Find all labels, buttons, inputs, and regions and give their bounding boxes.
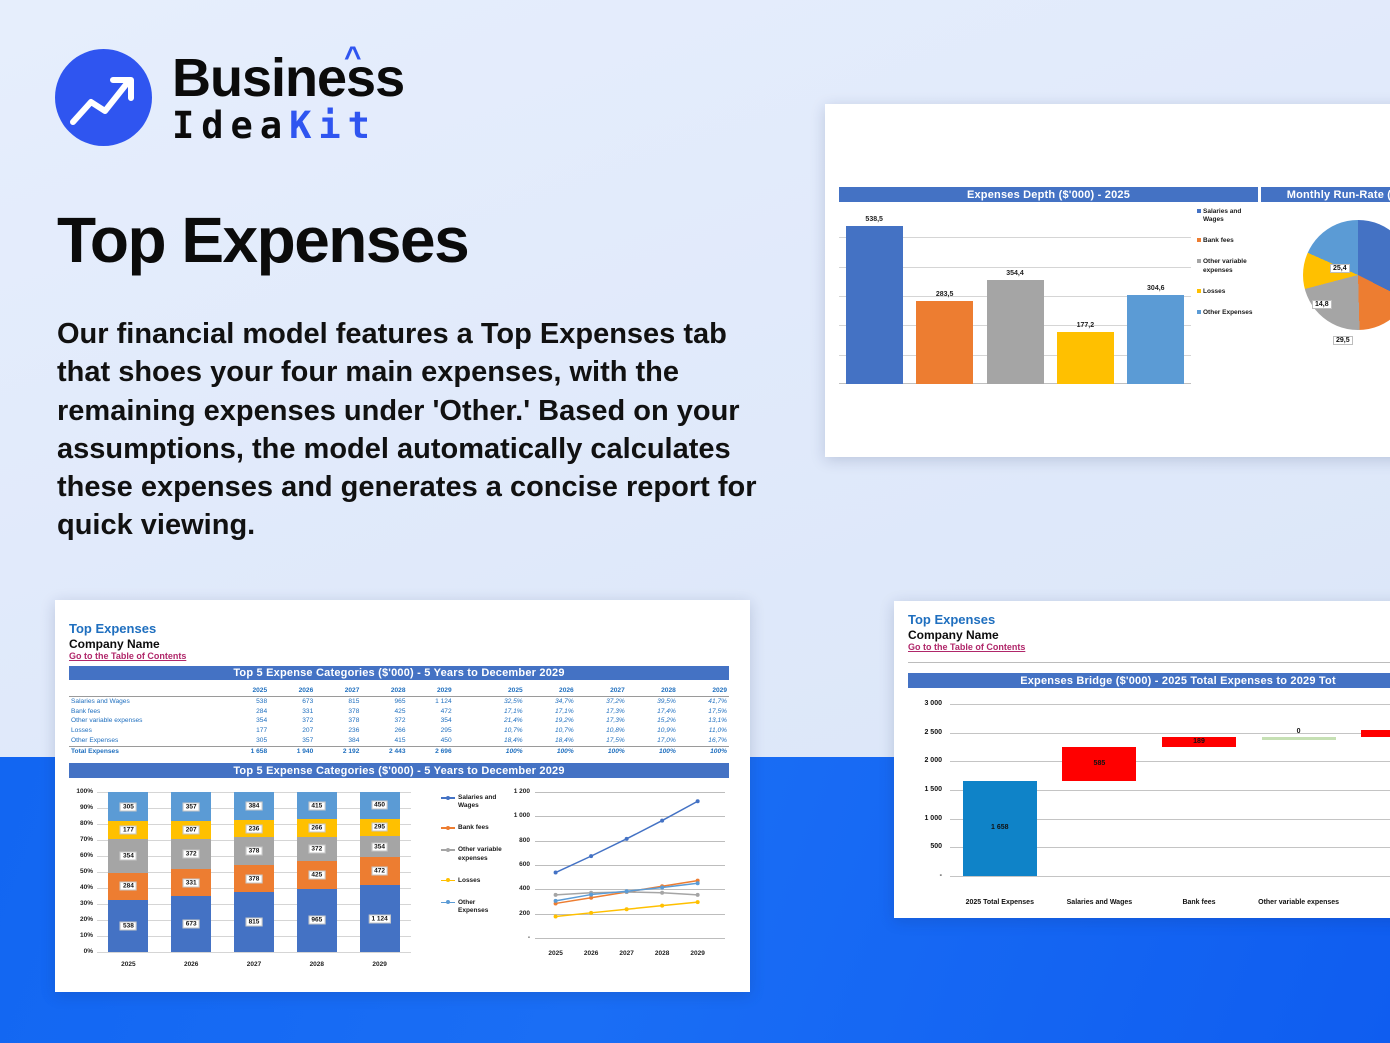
cell-percent: 41,7% — [678, 696, 729, 706]
cell-value: 378 — [315, 716, 361, 726]
page-description: Our financial model features a Top Expen… — [57, 315, 757, 545]
table-header-row: 2025202620272028202920252026202720282029 — [69, 686, 729, 696]
legend-item-2: Other variable expenses — [1197, 258, 1259, 274]
chart-title-band-stacked: Top 5 Expense Categories ($'000) - 5 Yea… — [69, 763, 729, 778]
x-tick-label: Other variable expenses — [1249, 899, 1349, 906]
cell-percent: 100% — [678, 746, 729, 756]
segment-losses: 177 — [108, 821, 148, 838]
legend-marker — [441, 846, 455, 853]
segment-other-variable-expenses: 354 — [108, 839, 148, 873]
col-year-2029: 2029 — [408, 686, 454, 696]
row-label: Bank fees — [69, 707, 223, 717]
cell-percent: 10,7% — [525, 726, 576, 736]
stacked-column-2025: 305177354284538 — [108, 792, 148, 952]
segment-label: 378 — [246, 847, 263, 856]
legend-dot — [446, 826, 450, 830]
cell-gap — [454, 716, 474, 726]
waterfall-bar-label: 1 658 — [963, 824, 1037, 831]
col-pct-year-2029: 2029 — [678, 686, 729, 696]
legend-dot — [446, 878, 450, 882]
legend-dot — [446, 848, 450, 852]
cell-value: 372 — [361, 716, 407, 726]
y-tick-label: 70% — [69, 836, 93, 843]
chart-title-expenses-bridge: Expenses Bridge ($'000) - 2025 Total Exp… — [908, 673, 1390, 688]
cell-value: 295 — [408, 726, 454, 736]
waterfall-bar-3 — [1262, 737, 1336, 740]
x-tick-label: Los — [1348, 899, 1390, 906]
line-chart-legend: Salaries and WagesBank feesOther variabl… — [441, 794, 507, 929]
cell-percent: 10,9% — [627, 726, 678, 736]
stacked-bar-chart: 0%10%20%30%40%50%60%70%80%90%100%3051773… — [69, 784, 439, 974]
chart-title-expenses-depth: Expenses Depth ($'000) - 2025 — [839, 187, 1258, 202]
segment-label: 538 — [120, 922, 137, 931]
cell-value: 207 — [269, 726, 315, 736]
y-tick-label: 2 500 — [908, 729, 942, 736]
segment-other-expenses: 305 — [108, 792, 148, 821]
row-label: Salaries and Wages — [69, 696, 223, 706]
x-tick-label: Bank fees — [1149, 899, 1249, 906]
segment-other-expenses: 357 — [171, 792, 211, 821]
segment-label: 425 — [308, 870, 325, 879]
line-series-svg — [505, 784, 729, 974]
segment-label: 357 — [183, 802, 200, 811]
row-label: Other Expenses — [69, 736, 223, 746]
cell-percent: 11,0% — [678, 726, 729, 736]
cell-value: 965 — [361, 696, 407, 706]
stacked-column-2026: 357207372331673 — [171, 792, 211, 952]
cell-value: 472 — [408, 707, 454, 717]
cell-percent: 17,5% — [576, 736, 627, 746]
bar-label: 283,5 — [916, 291, 973, 298]
legend-label: Other variable expenses — [458, 846, 507, 862]
cell-percent: 10,7% — [474, 726, 525, 736]
waterfall-bar-label: 0 — [1262, 728, 1336, 735]
line-chart: -2004006008001 0001 20020252026202720282… — [505, 784, 729, 974]
gridline — [950, 761, 1390, 762]
expense-table: 2025202620272028202920252026202720282029… — [69, 686, 729, 756]
screenshot-panel-top5-categories: Top Expenses Company Name Go to the Tabl… — [55, 600, 750, 992]
cell-value: 1 940 — [269, 746, 315, 756]
legend-swatch — [1197, 310, 1201, 314]
table-of-contents-link[interactable]: Go to the Table of Contents — [908, 642, 1025, 653]
table-row: Other variable expenses35437237837235421… — [69, 716, 729, 726]
legend-item-0: Salaries and Wages — [441, 794, 507, 810]
col-year-2025: 2025 — [223, 686, 269, 696]
segment-label: 372 — [308, 844, 325, 853]
sheet-company-name: Company Name — [908, 628, 1025, 642]
gridline — [950, 704, 1390, 705]
sheet-company-name: Company Name — [69, 637, 186, 651]
segment-label: 673 — [183, 920, 200, 929]
segment-label: 450 — [371, 801, 388, 810]
cell-percent: 17,4% — [627, 707, 678, 717]
row-label: Other variable expenses — [69, 716, 223, 726]
segment-salaries-and-wages: 673 — [171, 896, 211, 952]
segment-label: 384 — [246, 802, 263, 811]
legend-label: Other variable expenses — [1203, 258, 1259, 274]
divider — [908, 662, 1390, 663]
segment-label: 305 — [120, 802, 137, 811]
col-year-2027: 2027 — [315, 686, 361, 696]
legend-item-3: Losses — [441, 877, 507, 885]
logo-circumflex-accent: ^ — [344, 43, 361, 73]
y-tick-label: 0% — [69, 948, 93, 955]
legend-swatch — [1197, 209, 1201, 213]
col-year-2028: 2028 — [361, 686, 407, 696]
cell-percent: 17,3% — [576, 707, 627, 717]
legend-item-4: Other Expenses — [1197, 309, 1259, 317]
cell-percent: 13,1% — [678, 716, 729, 726]
bar-label: 304,6 — [1127, 285, 1184, 292]
monthly-run-rate-pie-chart — [1303, 220, 1390, 330]
segment-other-variable-expenses: 372 — [297, 837, 337, 861]
cell-percent: 21,4% — [474, 716, 525, 726]
segment-salaries-and-wages: 965 — [297, 889, 337, 952]
bar-label: 177,2 — [1057, 322, 1114, 329]
segment-label: 331 — [183, 878, 200, 887]
segment-label: 354 — [120, 851, 137, 860]
cell-percent: 16,7% — [678, 736, 729, 746]
stacked-column-2029: 4502953544721 124 — [360, 792, 400, 952]
cell-value: 284 — [223, 707, 269, 717]
legend-swatch — [1197, 289, 1201, 293]
pie-slice-label-3: 14,8 — [1312, 300, 1332, 309]
table-row: Other Expenses30535738441545018,4%18,4%1… — [69, 736, 729, 746]
segment-losses: 236 — [234, 820, 274, 837]
bar-0 — [846, 226, 903, 384]
legend-label: Other Expenses — [1203, 309, 1253, 317]
table-of-contents-link[interactable]: Go to the Table of Contents — [69, 651, 186, 662]
cell-percent: 18,4% — [525, 736, 576, 746]
screenshot-panel-expenses-depth: Expenses Depth ($'000) - 2025 Monthly Ru… — [825, 104, 1390, 457]
x-tick-label: Salaries and Wages — [1050, 899, 1150, 906]
legend-dot — [446, 900, 450, 904]
cell-value: 415 — [361, 736, 407, 746]
segment-other-variable-expenses: 378 — [234, 837, 274, 865]
waterfall-bar-label: 189 — [1162, 738, 1236, 745]
cell-value: 177 — [223, 726, 269, 736]
cell-percent: 10,8% — [576, 726, 627, 736]
legend-item-0: Salaries and Wages — [1197, 208, 1259, 224]
cell-value: 372 — [269, 716, 315, 726]
legend-dot — [446, 796, 450, 800]
segment-bank-fees: 378 — [234, 865, 274, 893]
segment-label: 177 — [120, 825, 137, 834]
col-pct-year-2028: 2028 — [627, 686, 678, 696]
x-tick-label: 2029 — [360, 961, 400, 968]
segment-label: 1 124 — [368, 914, 390, 923]
bar-3 — [1057, 332, 1114, 384]
segment-label: 284 — [120, 882, 137, 891]
cell-percent: 37,2% — [576, 696, 627, 706]
cell-gap — [454, 736, 474, 746]
x-tick-label: 2025 — [538, 950, 574, 957]
sheet-title: Top Expenses — [69, 622, 186, 637]
cell-value: 305 — [223, 736, 269, 746]
legend-swatch — [1197, 238, 1201, 242]
cell-percent: 100% — [525, 746, 576, 756]
segment-label: 965 — [308, 916, 325, 925]
cell-gap — [454, 696, 474, 706]
table-title-band: Top 5 Expense Categories ($'000) - 5 Yea… — [69, 666, 729, 680]
stacked-column-2027: 384236378378815 — [234, 792, 274, 952]
segment-salaries-and-wages: 538 — [108, 900, 148, 952]
x-tick-label: 2025 — [108, 961, 148, 968]
y-tick-label: 1 000 — [908, 815, 942, 822]
cell-percent: 17,1% — [474, 707, 525, 717]
col-pct-year-2025: 2025 — [474, 686, 525, 696]
cell-value: 331 — [269, 707, 315, 717]
row-label: Total Expenses — [69, 746, 223, 756]
cell-percent: 19,2% — [525, 716, 576, 726]
gridline — [950, 876, 1390, 877]
segment-label: 354 — [371, 842, 388, 851]
y-tick-label: 500 — [908, 843, 942, 850]
segment-losses: 266 — [297, 819, 337, 836]
sheet-title: Top Expenses — [908, 613, 1025, 628]
cell-percent: 100% — [576, 746, 627, 756]
segment-label: 415 — [308, 801, 325, 810]
segment-losses: 207 — [171, 821, 211, 838]
cell-value: 538 — [223, 696, 269, 706]
y-tick-label: 40% — [69, 884, 93, 891]
legend-marker — [441, 899, 455, 906]
cell-percent: 17,1% — [525, 707, 576, 717]
top5-expense-table: 2025202620272028202920252026202720282029… — [69, 686, 729, 756]
col-pct-year-2027: 2027 — [576, 686, 627, 696]
expenses-depth-bar-chart: 538,5283,5354,4177,2304,6 — [839, 208, 1191, 384]
col-year-2026: 2026 — [269, 686, 315, 696]
legend-item-4: Other Expenses — [441, 899, 507, 915]
table-row: Salaries and Wages5386738159651 12432,5%… — [69, 696, 729, 706]
legend-label: Other Expenses — [458, 899, 507, 915]
legend-label: Salaries and Wages — [458, 794, 507, 810]
cell-gap — [454, 707, 474, 717]
segment-salaries-and-wages: 1 124 — [360, 885, 400, 952]
cell-value: 815 — [315, 696, 361, 706]
segment-label: 815 — [246, 918, 263, 927]
segment-label: 207 — [183, 825, 200, 834]
logo-kit-text: Kit — [289, 104, 377, 147]
cell-value: 1 658 — [223, 746, 269, 756]
segment-label: 295 — [371, 823, 388, 832]
chart-title-monthly-run-rate: Monthly Run-Rate ($'000 — [1261, 187, 1390, 202]
cell-value: 1 124 — [408, 696, 454, 706]
legend-label: Losses — [458, 877, 480, 885]
logo-wordmark-line2: IdeaKit — [172, 107, 404, 144]
legend-marker — [441, 824, 455, 831]
legend-item-1: Bank fees — [441, 824, 507, 832]
bar-label: 538,5 — [846, 216, 903, 223]
segment-other-expenses: 415 — [297, 792, 337, 819]
legend-item-2: Other variable expenses — [441, 846, 507, 862]
segment-bank-fees: 472 — [360, 857, 400, 885]
x-tick-label: 2025 Total Expenses — [950, 899, 1050, 906]
expenses-bridge-waterfall-chart: -5001 0001 5002 0002 5003 0001 658585189… — [908, 698, 1390, 906]
y-tick-label: 90% — [69, 804, 93, 811]
cell-value: 450 — [408, 736, 454, 746]
cell-percent: 17,5% — [678, 707, 729, 717]
table-row: Losses17720723626629510,7%10,7%10,8%10,9… — [69, 726, 729, 736]
screenshot-panel-expenses-bridge: Top Expenses Company Name Go to the Tabl… — [894, 601, 1390, 918]
col-gap — [454, 686, 474, 696]
cell-value: 378 — [315, 707, 361, 717]
cell-percent: 39,5% — [627, 696, 678, 706]
cell-value: 236 — [315, 726, 361, 736]
pie-slice-label-2: 29,5 — [1333, 336, 1353, 345]
y-tick-label: 60% — [69, 852, 93, 859]
cell-value: 354 — [408, 716, 454, 726]
brand-logo: Business ^ IdeaKit — [55, 47, 404, 147]
legend-label: Salaries and Wages — [1203, 208, 1259, 224]
logo-wordmark-line1: Business ^ — [172, 51, 404, 105]
segment-label: 372 — [183, 849, 200, 858]
segment-other-expenses: 450 — [360, 792, 400, 819]
row-label: Losses — [69, 726, 223, 736]
cell-value: 673 — [269, 696, 315, 706]
x-tick-label: 2028 — [297, 961, 337, 968]
y-tick-label: - — [908, 872, 942, 879]
y-tick-label: 20% — [69, 916, 93, 923]
segment-label: 236 — [246, 824, 263, 833]
trend-arrow-circle-icon — [55, 49, 152, 146]
y-tick-label: 3 000 — [908, 700, 942, 707]
cell-value: 2 696 — [408, 746, 454, 756]
y-tick-label: 2 000 — [908, 757, 942, 764]
legend-item-1: Bank fees — [1197, 237, 1259, 245]
segment-other-variable-expenses: 372 — [171, 839, 211, 870]
waterfall-bar-label: 585 — [1062, 760, 1136, 767]
bar-1 — [916, 301, 973, 384]
cell-value: 384 — [315, 736, 361, 746]
legend-swatch — [1197, 259, 1201, 263]
legend-label: Bank fees — [1203, 237, 1234, 245]
segment-salaries-and-wages: 815 — [234, 892, 274, 952]
cell-percent: 32,5% — [474, 696, 525, 706]
table-total-row: Total Expenses1 6581 9402 1922 4432 6961… — [69, 746, 729, 756]
legend-marker — [441, 877, 455, 884]
legend-label: Losses — [1203, 288, 1225, 296]
pie-slice-label-4: 25,4 — [1330, 264, 1350, 273]
sheet-header-right: Top Expenses Company Name Go to the Tabl… — [908, 613, 1025, 653]
y-tick-label: 1 500 — [908, 786, 942, 793]
cell-value: 2 443 — [361, 746, 407, 756]
cell-percent: 34,7% — [525, 696, 576, 706]
segment-losses: 295 — [360, 819, 400, 837]
legend-label: Bank fees — [458, 824, 489, 832]
logo-business-text: Business — [172, 48, 404, 108]
cell-value: 266 — [361, 726, 407, 736]
legend-marker — [441, 794, 455, 801]
col-blank — [69, 686, 223, 696]
segment-label: 266 — [308, 823, 325, 832]
expenses-depth-legend: Salaries and WagesBank feesOther variabl… — [1197, 208, 1259, 330]
bar-4 — [1127, 295, 1184, 384]
segment-label: 472 — [371, 867, 388, 876]
col-pct-year-2026: 2026 — [525, 686, 576, 696]
cell-percent: 17,0% — [627, 736, 678, 746]
sheet-header-left: Top Expenses Company Name Go to the Tabl… — [69, 622, 186, 662]
segment-other-expenses: 384 — [234, 792, 274, 820]
cell-gap — [454, 746, 474, 756]
gridline — [97, 952, 411, 953]
waterfall-bar-label: 1 — [1361, 729, 1390, 736]
y-tick-label: 80% — [69, 820, 93, 827]
x-tick-label: 2028 — [644, 950, 680, 957]
segment-other-variable-expenses: 354 — [360, 836, 400, 857]
cell-percent: 15,2% — [627, 716, 678, 726]
cell-percent: 100% — [627, 746, 678, 756]
cell-percent: 18,4% — [474, 736, 525, 746]
segment-label: 378 — [246, 874, 263, 883]
x-tick-label: 2027 — [609, 950, 645, 957]
segment-bank-fees: 284 — [108, 873, 148, 900]
cell-gap — [454, 726, 474, 736]
y-tick-label: 30% — [69, 900, 93, 907]
bar-label: 354,4 — [987, 270, 1044, 277]
x-tick-label: 2027 — [234, 961, 274, 968]
bar-2 — [987, 280, 1044, 384]
logo-idea-text: Idea — [172, 104, 289, 147]
x-tick-label: 2026 — [573, 950, 609, 957]
y-tick-label: 10% — [69, 932, 93, 939]
cell-percent: 17,3% — [576, 716, 627, 726]
segment-bank-fees: 425 — [297, 861, 337, 889]
cell-value: 354 — [223, 716, 269, 726]
segment-bank-fees: 331 — [171, 869, 211, 896]
x-tick-label: 2026 — [171, 961, 211, 968]
legend-item-3: Losses — [1197, 288, 1259, 296]
cell-value: 357 — [269, 736, 315, 746]
x-tick-label: 2029 — [680, 950, 716, 957]
page-title: Top Expenses — [57, 203, 468, 277]
y-tick-label: 50% — [69, 868, 93, 875]
cell-percent: 100% — [474, 746, 525, 756]
table-row: Bank fees28433137842547217,1%17,1%17,3%1… — [69, 707, 729, 717]
y-tick-label: 100% — [69, 788, 93, 795]
stacked-column-2028: 415266372425965 — [297, 792, 337, 952]
cell-value: 425 — [361, 707, 407, 717]
cell-value: 2 192 — [315, 746, 361, 756]
